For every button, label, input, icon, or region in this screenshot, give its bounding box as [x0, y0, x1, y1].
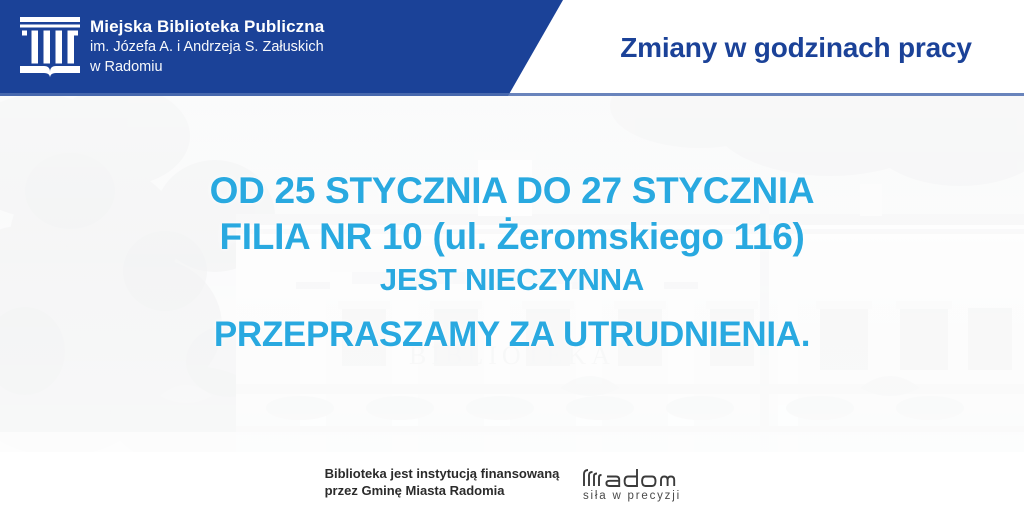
brand-name: Miejska Biblioteka Publiczna [90, 16, 510, 37]
announcement-poster: BIBLIOTEKA OD 25 STYCZNIA DO 27 STYCZNIA… [0, 0, 1024, 512]
brand-block: Miejska Biblioteka Publiczna im. Józefa … [90, 16, 510, 77]
radom-tagline: siła w precyzji [583, 490, 681, 502]
announcement-message: OD 25 STYCZNIA DO 27 STYCZNIA FILIA NR 1… [0, 96, 1024, 452]
header-bar: Miejska Biblioteka Publiczna im. Józefa … [0, 0, 1024, 96]
brand-patron: im. Józefa A. i Andrzeja S. Załuskich [90, 37, 510, 57]
brand-city: w Radomiu [90, 57, 510, 77]
message-line-3: JEST NIECZYNNA [380, 264, 644, 295]
funding-statement: Biblioteka jest instytucją finansowaną p… [325, 465, 560, 499]
funding-line-1: Biblioteka jest instytucją finansowaną [325, 465, 560, 482]
message-line-4: PRZEPRASZAMY ZA UTRUDNIENIA. [214, 317, 810, 352]
footer-bar: Biblioteka jest instytucją finansowaną p… [0, 452, 1024, 512]
library-columns-book-logo-icon [18, 13, 82, 81]
page-title: Zmiany w godzinach pracy [586, 0, 1006, 96]
message-line-2: FILIA NR 10 (ul. Żeromskiego 116) [220, 218, 805, 255]
funding-line-2: przez Gminę Miasta Radomia [325, 482, 560, 499]
radom-city-logo-icon: siła w precyzji [581, 462, 699, 502]
message-line-1: OD 25 STYCZNIA DO 27 STYCZNIA [210, 172, 815, 209]
